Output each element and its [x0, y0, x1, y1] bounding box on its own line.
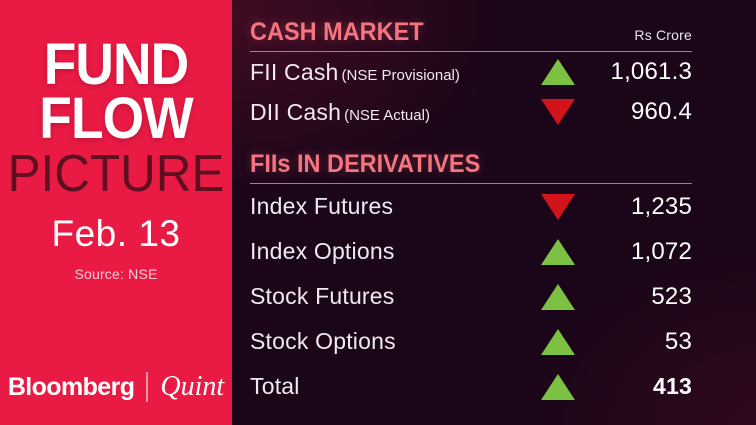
data-panel: CASH MARKET Rs Crore FII Cash(NSE Provis… [232, 0, 756, 425]
section-cash-market: CASH MARKET Rs Crore FII Cash(NSE Provis… [250, 0, 692, 132]
section-cash-market-title: CASH MARKET [250, 18, 424, 47]
row-value: 523 [588, 283, 692, 311]
table-row: Index Futures 1,235 [250, 184, 692, 229]
table-row: Stock Options 53 [250, 319, 692, 364]
section-fiis-derivatives-header: FIIs IN DERIVATIVES [250, 150, 692, 179]
arrow-up-icon [541, 239, 575, 265]
title-line-picture: PICTURE [6, 146, 226, 202]
row-label-main: DII Cash [250, 99, 341, 125]
section-fiis-derivatives-title: FIIs IN DERIVATIVES [250, 150, 480, 179]
date-label: Feb. 13 [0, 214, 232, 254]
row-direction [528, 374, 588, 400]
table-row: DII Cash(NSE Actual) 960.4 [250, 92, 692, 132]
arrow-up-icon [541, 329, 575, 355]
row-direction [528, 284, 588, 310]
row-value: 53 [588, 328, 692, 356]
title-panel: FUND FLOW PICTURE Feb. 13 Source: NSE Bl… [0, 0, 232, 425]
arrow-up-icon [541, 284, 575, 310]
row-label: Stock Options [250, 328, 528, 355]
row-label: Index Options [250, 238, 528, 265]
row-value: 960.4 [588, 98, 692, 126]
row-label: Total [250, 373, 528, 400]
row-label: Index Futures [250, 193, 528, 220]
row-label: DII Cash(NSE Actual) [250, 99, 528, 126]
row-value: 1,072 [588, 238, 692, 266]
bloomberg-quint-logo: Bloomberg Quint [0, 371, 232, 403]
row-label: Stock Futures [250, 283, 528, 310]
section-cash-market-header: CASH MARKET Rs Crore [250, 18, 692, 47]
logo-divider [146, 372, 148, 402]
title-line-flow: FLOW [9, 92, 222, 146]
row-label: FII Cash(NSE Provisional) [250, 59, 528, 86]
fund-flow-card: FUND FLOW PICTURE Feb. 13 Source: NSE Bl… [0, 0, 756, 425]
arrow-down-icon [541, 194, 575, 220]
row-value: 1,235 [588, 193, 692, 221]
row-direction [528, 99, 588, 125]
row-value: 1,061.3 [588, 58, 692, 86]
arrow-down-icon [541, 99, 575, 125]
title-line-fund: FUND [9, 38, 222, 92]
row-direction [528, 59, 588, 85]
row-label-sub: (NSE Actual) [344, 107, 430, 124]
arrow-up-icon [541, 374, 575, 400]
row-direction [528, 329, 588, 355]
table-row: Index Options 1,072 [250, 229, 692, 274]
row-label-main: FII Cash [250, 59, 339, 85]
unit-label: Rs Crore [634, 27, 692, 47]
row-label-sub: (NSE Provisional) [342, 67, 460, 84]
row-value: 413 [588, 373, 692, 400]
logo-quint-text: Quint [160, 371, 224, 403]
source-label: Source: NSE [0, 266, 232, 282]
section-cash-market-divider [250, 51, 692, 52]
section-fiis-derivatives-divider [250, 183, 692, 184]
row-direction [528, 194, 588, 220]
logo-bloomberg-text: Bloomberg [8, 373, 135, 402]
row-direction [528, 239, 588, 265]
table-row: FII Cash(NSE Provisional) 1,061.3 [250, 52, 692, 92]
section-fiis-derivatives: FIIs IN DERIVATIVES Index Futures 1,235 … [250, 132, 692, 409]
title-block: FUND FLOW PICTURE Feb. 13 Source: NSE [0, 38, 232, 282]
table-row: Stock Futures 523 [250, 274, 692, 319]
arrow-up-icon [541, 59, 575, 85]
table-row-total: Total 413 [250, 364, 692, 409]
